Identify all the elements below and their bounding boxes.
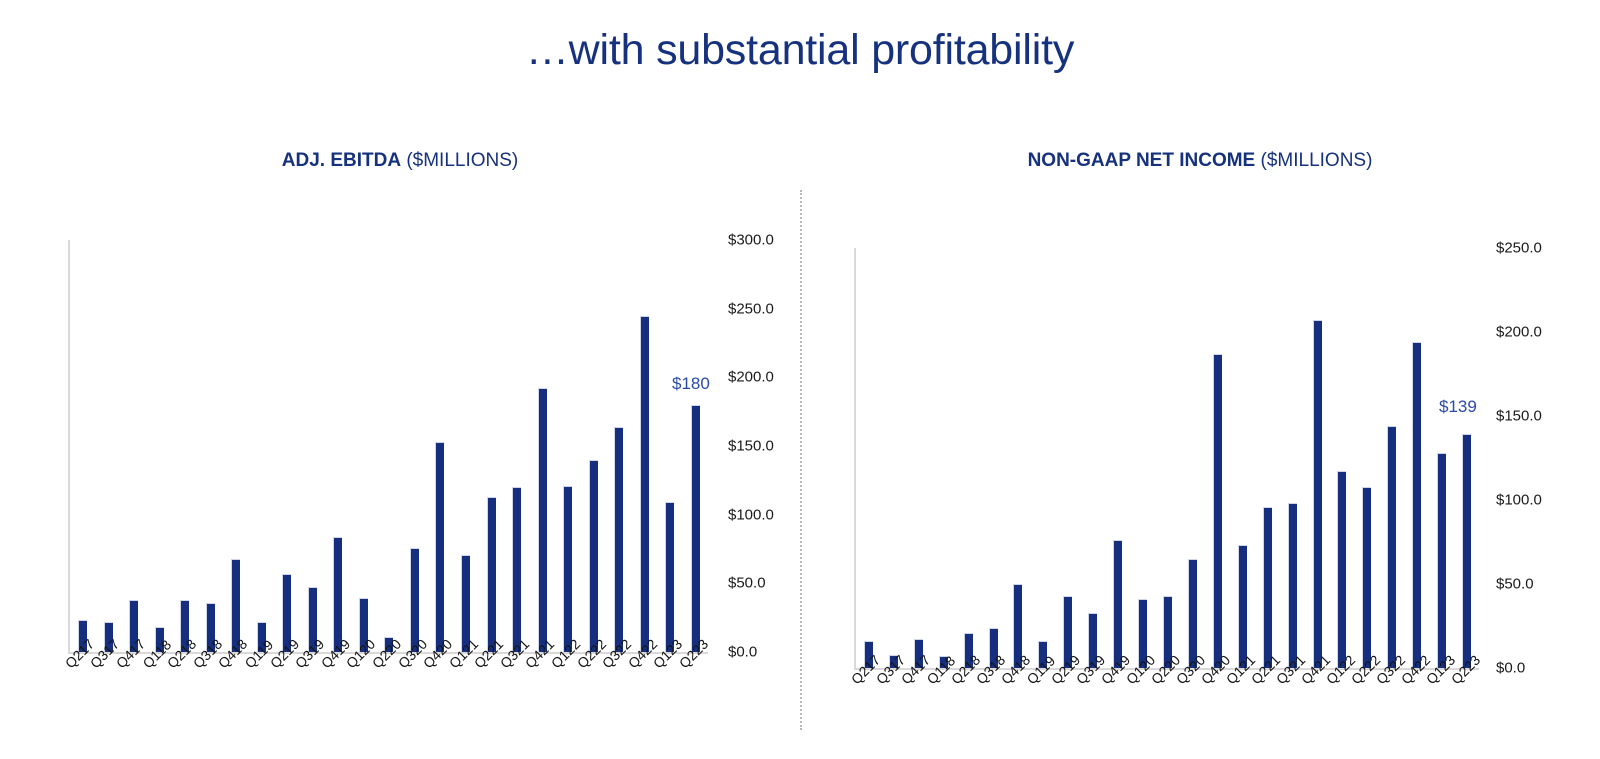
- bar-slot: [606, 240, 632, 652]
- bar-slot: [856, 248, 881, 668]
- bar-q322: [1387, 426, 1396, 668]
- bar-q122: [1337, 471, 1346, 668]
- bar-slot: [631, 240, 657, 652]
- bar-slot: [172, 240, 198, 652]
- x-tick-slot: Q319: [300, 656, 326, 726]
- chart-title-adj-ebitda-strong: ADJ. EBITDA: [282, 150, 401, 171]
- x-tick-slot: Q120: [1131, 672, 1156, 742]
- bar-q321: [1288, 503, 1297, 668]
- x-tick-slot: Q217: [856, 672, 881, 742]
- y-tick-label: $50.0: [1496, 576, 1534, 593]
- x-tick-slot: Q218: [956, 672, 981, 742]
- bar-slot: [376, 240, 402, 652]
- x-tick-slot: Q217: [70, 656, 96, 726]
- bar-q122: [563, 486, 572, 652]
- bar-q422: [640, 316, 649, 652]
- x-tick-slot: Q317: [96, 656, 122, 726]
- bar-slot: [1006, 248, 1031, 668]
- bar-slot: [1404, 248, 1429, 668]
- bar-q419: [333, 537, 342, 652]
- x-tick-slot: Q421: [531, 656, 557, 726]
- x-tick-slot: Q121: [1231, 672, 1256, 742]
- x-tick-slot: Q420: [428, 656, 454, 726]
- chart-title-adj-ebitda-units: ($MILLIONS): [401, 150, 518, 171]
- x-tick-slot: Q220: [1156, 672, 1181, 742]
- bar-slot: [402, 240, 428, 652]
- x-tick-slot: Q123: [1431, 672, 1456, 742]
- y-tick-label: $0.0: [728, 644, 757, 661]
- x-tick-slot: Q322: [607, 656, 633, 726]
- bar-slot: [682, 240, 708, 652]
- x-tick-slot: Q421: [1306, 672, 1331, 742]
- y-axis-labels-non-gaap-net-income: $0.0$50.0$100.0$150.0$200.0$250.0: [1496, 248, 1586, 668]
- bar-slot: [249, 240, 275, 652]
- bar-slot: [881, 248, 906, 668]
- x-tick-slot: Q122: [1331, 672, 1356, 742]
- x-tick-slot: Q221: [1256, 672, 1281, 742]
- callout-label-non-gaap-net-income: $139: [1439, 397, 1477, 417]
- x-tick-slot: Q221: [480, 656, 506, 726]
- bar-q422: [1412, 342, 1421, 668]
- bar-slot: [223, 240, 249, 652]
- chart-title-non-gaap-net-income-strong: NON-GAAP NET INCOME: [1028, 150, 1256, 171]
- x-tick-slot: Q418: [224, 656, 250, 726]
- x-tick-slot: Q319: [1081, 672, 1106, 742]
- x-tick-slot: Q321: [1281, 672, 1306, 742]
- callout-label-adj-ebitda: $180: [672, 374, 710, 394]
- x-tick-slot: Q223: [684, 656, 710, 726]
- bar-q121: [1238, 545, 1247, 668]
- bar-slot: [325, 240, 351, 652]
- y-axis-labels-adj-ebitda: $0.0$50.0$100.0$150.0$200.0$250.0$300.0: [728, 240, 808, 652]
- bar-slot: [1330, 248, 1355, 668]
- chart-title-non-gaap-net-income: NON-GAAP NET INCOME ($MILLIONS): [800, 150, 1600, 172]
- bar-q419: [1113, 540, 1122, 668]
- x-tick-slot: Q120: [352, 656, 378, 726]
- x-tick-slot: Q220: [377, 656, 403, 726]
- x-tick-slot: Q219: [275, 656, 301, 726]
- bar-slot: [931, 248, 956, 668]
- bar-slot: [580, 240, 606, 652]
- x-tick-slot: Q317: [881, 672, 906, 742]
- bar-slot: [981, 248, 1006, 668]
- bar-slot: [1205, 248, 1230, 668]
- bar-q123: [665, 502, 674, 652]
- bar-slot: [121, 240, 147, 652]
- y-tick-label: $200.0: [728, 369, 774, 386]
- y-tick-label: $200.0: [1496, 324, 1542, 341]
- x-tick-slot: Q218: [172, 656, 198, 726]
- bar-slot: [906, 248, 931, 668]
- bar-slot: [274, 240, 300, 652]
- x-tick-slot: Q219: [1056, 672, 1081, 742]
- bar-slot: [657, 240, 683, 652]
- bar-q222: [589, 460, 598, 652]
- bar-q221: [487, 497, 496, 652]
- bar-slot: [555, 240, 581, 652]
- y-tick-label: $100.0: [728, 506, 774, 523]
- x-tick-slot: Q223: [1456, 672, 1481, 742]
- x-tick-slot: Q418: [1006, 672, 1031, 742]
- chart-title-non-gaap-net-income-units: ($MILLIONS): [1255, 150, 1372, 171]
- bar-slot: [1055, 248, 1080, 668]
- x-tick-slot: Q318: [198, 656, 224, 726]
- x-tick-slot: Q417: [121, 656, 147, 726]
- bar-q223: [1462, 434, 1471, 668]
- y-tick-label: $50.0: [728, 575, 766, 592]
- y-tick-label: $150.0: [728, 438, 774, 455]
- x-tick-slot: Q118: [147, 656, 173, 726]
- x-tick-slot: Q320: [403, 656, 429, 726]
- bar-q222: [1362, 487, 1371, 668]
- y-tick-label: $300.0: [728, 232, 774, 249]
- x-tick-slot: Q121: [454, 656, 480, 726]
- x-tick-slot: Q119: [249, 656, 275, 726]
- x-axis-labels-non-gaap-net-income: Q217Q317Q417Q118Q218Q318Q418Q119Q219Q319…: [856, 672, 1481, 742]
- x-tick-slot: Q422: [1406, 672, 1431, 742]
- bar-slot: [529, 240, 555, 652]
- bar-slot: [1155, 248, 1180, 668]
- bar-slot: [1180, 248, 1205, 668]
- x-tick-slot: Q119: [1031, 672, 1056, 742]
- bar-q322: [614, 427, 623, 652]
- y-tick-label: $0.0: [1496, 660, 1525, 677]
- bar-slot: [70, 240, 96, 652]
- bar-slot: [1379, 248, 1404, 668]
- bar-slot: [147, 240, 173, 652]
- x-tick-slot: Q222: [1356, 672, 1381, 742]
- x-tick-slot: Q320: [1181, 672, 1206, 742]
- bar-slot: [300, 240, 326, 652]
- x-tick-slot: Q318: [981, 672, 1006, 742]
- x-axis-labels-adj-ebitda: Q217Q317Q417Q118Q218Q318Q418Q119Q219Q319…: [70, 656, 710, 726]
- x-tick-slot: Q122: [556, 656, 582, 726]
- bar-slot: [1030, 248, 1055, 668]
- y-tick-label: $250.0: [728, 300, 774, 317]
- bar-slot: [1255, 248, 1280, 668]
- bar-slot: [96, 240, 122, 652]
- bar-slot: [478, 240, 504, 652]
- bar-slot: [504, 240, 530, 652]
- x-tick-slot: Q321: [505, 656, 531, 726]
- bar-q123: [1437, 453, 1446, 668]
- bar-slot: [427, 240, 453, 652]
- plot-area-non-gaap-net-income: [854, 248, 1479, 668]
- bar-q420: [1213, 354, 1222, 668]
- bar-slot: [351, 240, 377, 652]
- bar-slot: [1429, 248, 1454, 668]
- bar-slot: [1130, 248, 1155, 668]
- bar-slot: [1080, 248, 1105, 668]
- bar-slot: [1105, 248, 1130, 668]
- bar-slot: [1280, 248, 1305, 668]
- bar-q421: [538, 388, 547, 652]
- y-tick-label: $150.0: [1496, 408, 1542, 425]
- bar-q223: [691, 405, 700, 652]
- bar-series-adj-ebitda: [70, 240, 708, 652]
- x-tick-slot: Q123: [659, 656, 685, 726]
- x-tick-slot: Q322: [1381, 672, 1406, 742]
- bar-q221: [1263, 507, 1272, 668]
- plot-area-adj-ebitda: [68, 240, 708, 652]
- bar-slot: [198, 240, 224, 652]
- x-tick-slot: Q419: [326, 656, 352, 726]
- bar-slot: [1305, 248, 1330, 668]
- x-tick-slot: Q420: [1206, 672, 1231, 742]
- bar-slot: [1354, 248, 1379, 668]
- bar-q321: [512, 487, 521, 652]
- bar-slot: [956, 248, 981, 668]
- bar-q420: [435, 442, 444, 652]
- x-tick-slot: Q118: [931, 672, 956, 742]
- bar-slot: [1454, 248, 1479, 668]
- x-tick-slot: Q222: [582, 656, 608, 726]
- bar-q421: [1313, 320, 1322, 668]
- chart-title-adj-ebitda: ADJ. EBITDA ($MILLIONS): [0, 150, 800, 172]
- bar-series-non-gaap-net-income: [856, 248, 1479, 668]
- y-tick-label: $100.0: [1496, 492, 1542, 509]
- x-tick-slot: Q417: [906, 672, 931, 742]
- x-tick-slot: Q422: [633, 656, 659, 726]
- y-tick-label: $250.0: [1496, 240, 1542, 257]
- bar-slot: [453, 240, 479, 652]
- bar-slot: [1230, 248, 1255, 668]
- x-tick-slot: Q419: [1106, 672, 1131, 742]
